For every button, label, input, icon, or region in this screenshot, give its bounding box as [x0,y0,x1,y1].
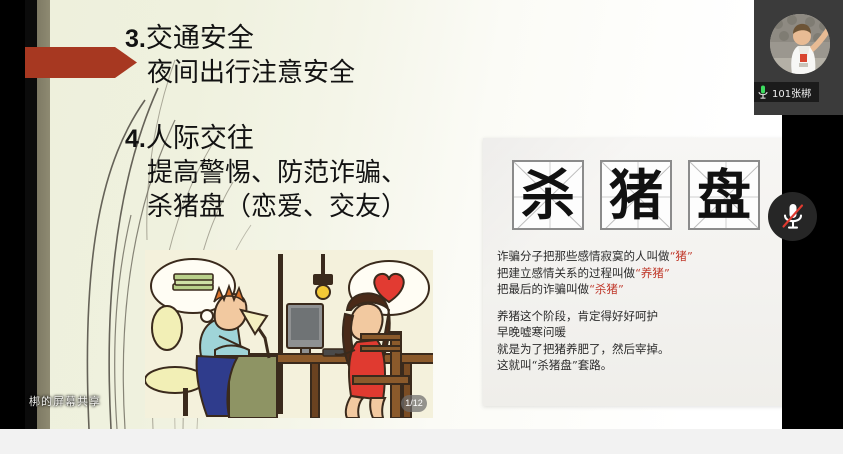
participant-thumbnail[interactable]: 101张梆 [754,0,843,115]
section-3-title: 交通安全 [146,23,254,54]
participant-name-bar: 101张梆 [754,82,819,102]
paper-p1-line-1: 诈骗分子把那些感情寂寞的人叫做“猪” [497,248,779,265]
boxed-character-cell: 猪 [600,160,672,230]
section-4-detail-line-2: 杀猪盘（恋爱、交友） [125,190,407,224]
paper-p1-line-3-plain: 把最后的诈骗叫做 [497,282,589,296]
paper-body-text: 诈骗分子把那些感情寂寞的人叫做“猪” 把建立感情关系的过程叫做“养猪” 把最后的… [497,248,779,374]
section-4-heading: 4.人际交往 [125,122,407,156]
section-3-detail: 夜间出行注意安全 [125,56,355,90]
cartoon-illustration: 1/12 [145,250,433,418]
boxed-character-cell: 杀 [512,160,584,230]
paper-p1-line-2-quoted: “养猪” [635,266,670,280]
paper-text-gap [497,298,779,308]
microphone-icon [758,85,768,99]
shared-slide: 3.交通安全 夜间出行注意安全 4.人际交往 提高警惕、防范诈骗、 杀猪盘（恋爱… [25,0,782,429]
paper-p1-line-2-plain: 把建立感情关系的过程叫做 [497,266,635,280]
slide-section-3: 3.交通安全 夜间出行注意安全 [125,22,355,90]
bottom-bar [0,429,843,454]
paper-panel: 杀 猪 [483,138,782,406]
section-4-detail-line-1: 提高警惕、防范诈骗、 [125,156,407,190]
paper-p1-line-3: 把最后的诈骗叫做“杀猪” [497,281,779,298]
avatar-image [770,14,830,74]
paper-p1-line-3-quoted: “杀猪” [589,282,624,296]
paper-p2-line-4: 这就叫“杀猪盘”套路。 [497,357,779,374]
section-3-number: 3. [125,25,146,53]
boxed-characters-row: 杀 猪 [495,160,777,232]
boxed-character-2: 猪 [602,162,670,228]
paper-p2-line-2: 早晚嘘寒问暖 [497,324,779,341]
accent-arrow-banner-icon [25,45,137,80]
participant-name: 101张梆 [772,85,811,100]
section-4-title: 人际交往 [146,123,254,154]
paper-p2-line-3: 就是为了把猪养肥了，然后宰掉。 [497,341,779,358]
screen-share-watermark: 梆的屏幕共享 [25,390,107,412]
boxed-character-1: 杀 [514,162,582,228]
section-4-number: 4. [125,125,146,153]
paper-p1-line-1-plain: 诈骗分子把那些感情寂寞的人叫做 [497,249,670,263]
slide-page-badge: 1/12 [401,395,427,412]
mute-toggle-button[interactable] [768,192,817,241]
paper-p2-line-1: 养猪这个阶段，肯定得好好呵护 [497,308,779,325]
slide-section-4: 4.人际交往 提高警惕、防范诈骗、 杀猪盘（恋爱、交友） [125,122,407,224]
boxed-character-cell: 盘 [688,160,760,230]
microphone-muted-icon [780,202,806,232]
avatar [770,14,830,74]
boxed-character-3: 盘 [690,162,758,228]
cartoon-illustration-graphic [145,250,433,418]
meeting-screen-share-view: 3.交通安全 夜间出行注意安全 4.人际交往 提高警惕、防范诈骗、 杀猪盘（恋爱… [0,0,843,454]
paper-p1-line-2: 把建立感情关系的过程叫做“养猪” [497,265,779,282]
paper-p1-line-1-quoted: “猪” [670,249,693,263]
section-3-heading: 3.交通安全 [125,22,355,56]
